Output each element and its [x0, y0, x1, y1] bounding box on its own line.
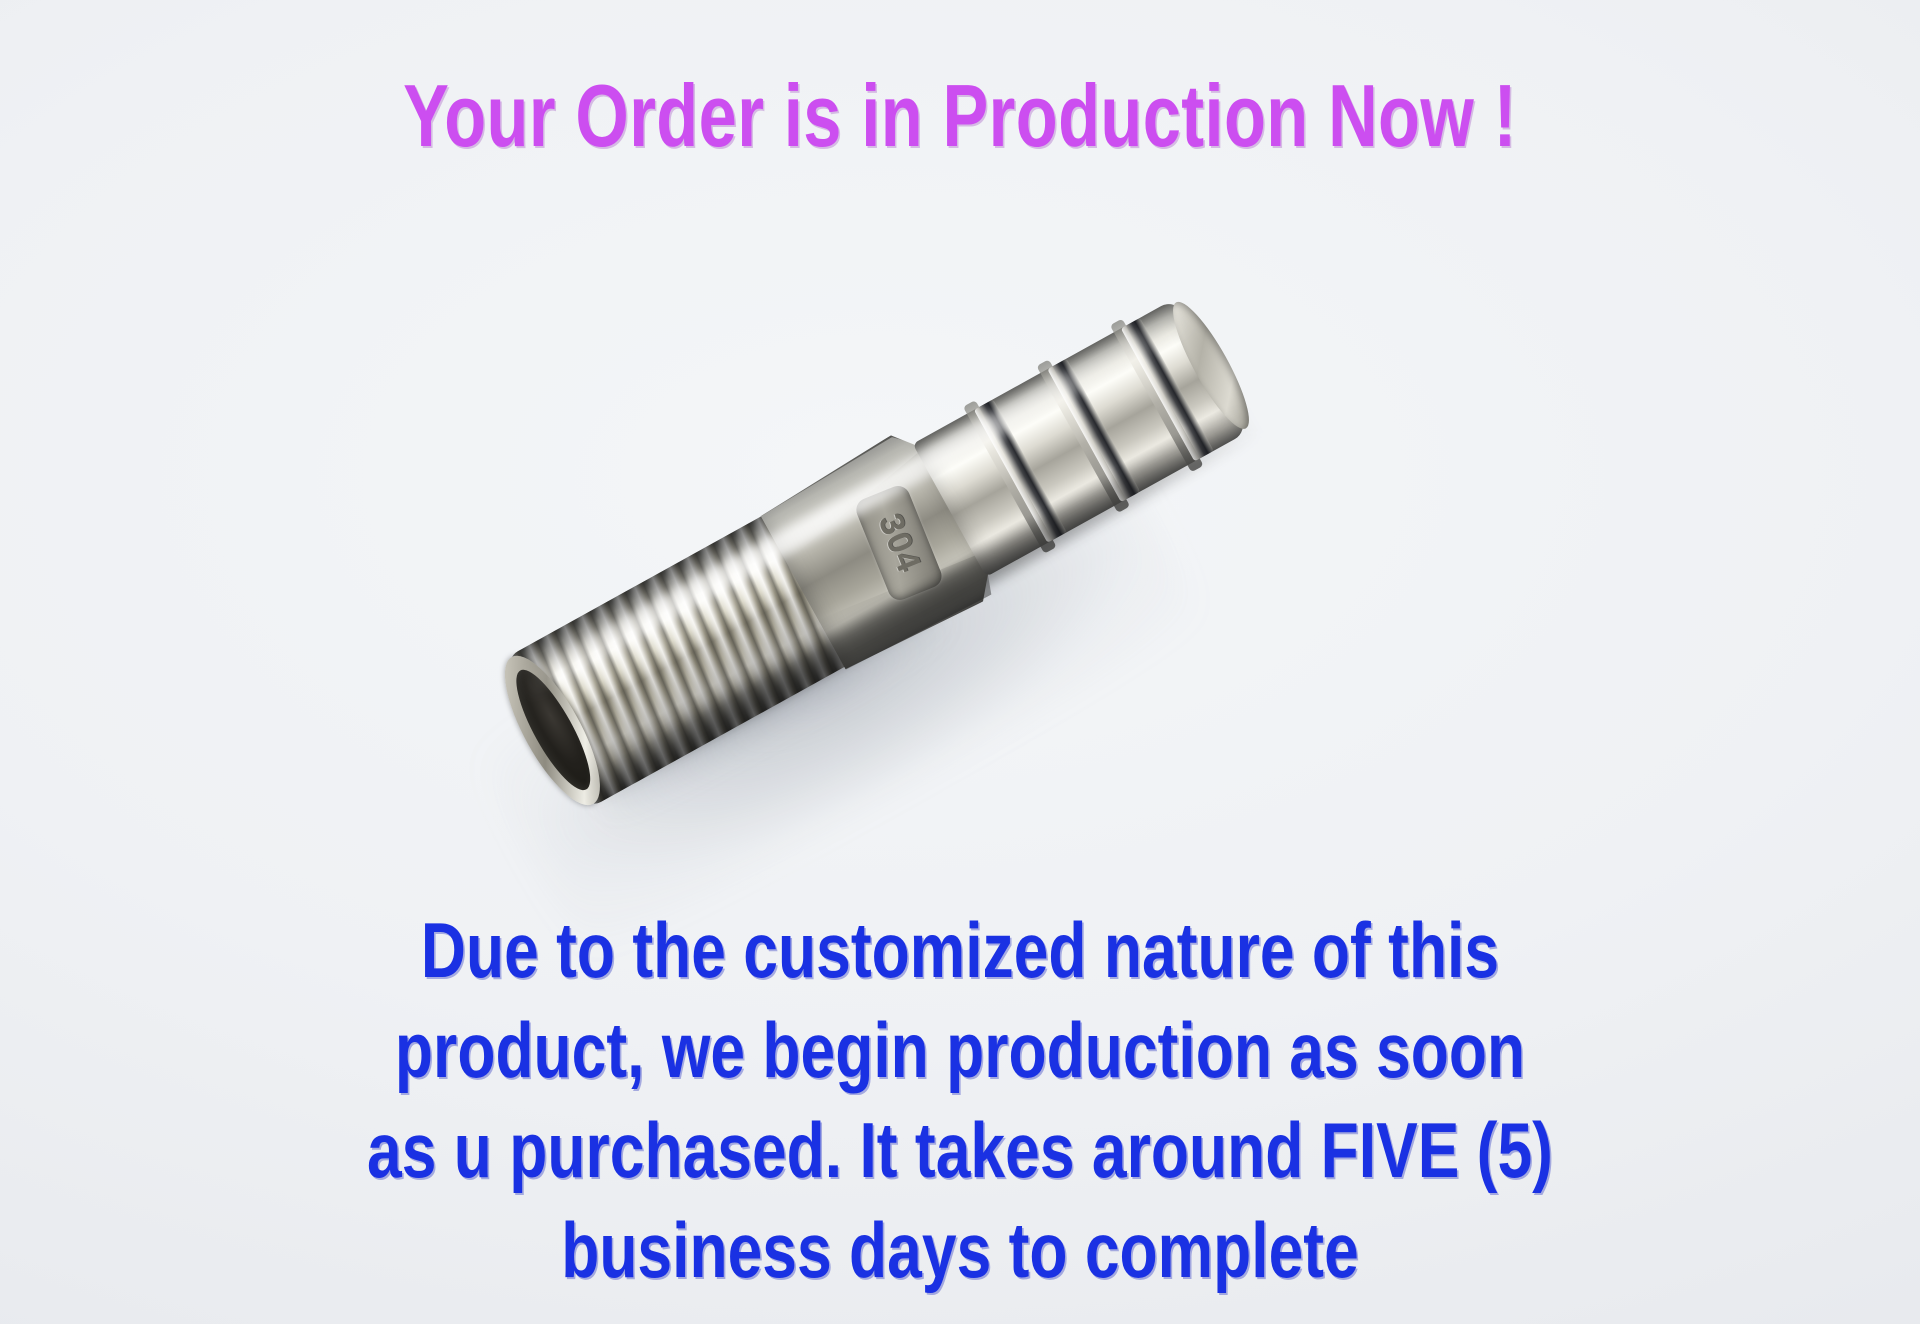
page-title: Your Order is in Production Now !: [211, 70, 1709, 162]
product-photo: 304: [430, 270, 1310, 870]
notice-line-3: as u purchased. It takes around FIVE (5): [192, 1100, 1728, 1200]
promo-banner: Your Order is in Production Now ! 304: [0, 0, 1920, 1324]
notice-line-2: product, we begin production as soon: [192, 1000, 1728, 1100]
notice-line-1: Due to the customized nature of this: [192, 900, 1728, 1000]
material-stamp-label: 304: [870, 508, 929, 578]
production-notice: Due to the customized nature of this pro…: [0, 900, 1920, 1300]
notice-line-4: business days to complete: [192, 1200, 1728, 1300]
